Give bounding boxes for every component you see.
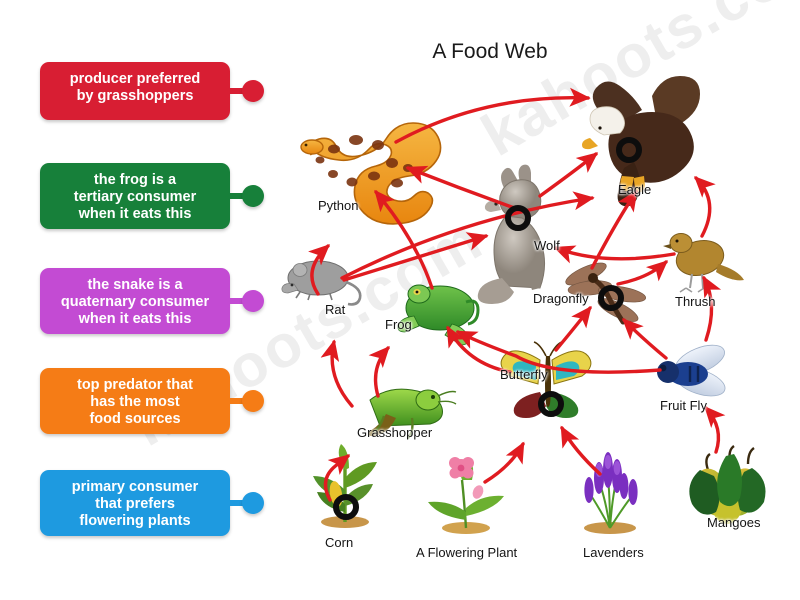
clue-line-2: quaternary consumer bbox=[48, 294, 222, 311]
arrow-grasshopper-frog bbox=[376, 348, 388, 396]
arrow-fruitfly-dragonfly bbox=[624, 320, 666, 358]
clue-line-2: that prefers bbox=[48, 496, 222, 513]
arrow-thrush-eagle bbox=[696, 178, 710, 236]
arrow-mangoes-fruitfly bbox=[706, 408, 718, 452]
arrow-lavenders-butterfly bbox=[562, 428, 600, 474]
arrow-wolf-eagle bbox=[540, 154, 596, 196]
clue-line-1: producer preferred bbox=[48, 71, 222, 88]
dropzone-butterfly[interactable] bbox=[538, 391, 564, 417]
organism-art-wolf bbox=[478, 165, 545, 304]
organism-art-thrush bbox=[663, 234, 744, 293]
dropzone-dragonfly[interactable] bbox=[598, 285, 624, 311]
arrow-thrush-wolf bbox=[556, 248, 674, 259]
dropzone-eagle[interactable] bbox=[616, 137, 642, 163]
clue-line-3: flowering plants bbox=[48, 513, 222, 530]
connector-knob[interactable] bbox=[242, 80, 264, 102]
organism-label-flowering-plant: A Flowering Plant bbox=[416, 545, 517, 560]
clue-card-top-predator-most-food-sources[interactable]: top predator that has the most food sour… bbox=[40, 368, 230, 434]
clue-line-2: tertiary consumer bbox=[48, 189, 222, 206]
clue-card-producer-preferred-by-grasshoppers[interactable]: producer preferred by grasshoppers bbox=[40, 62, 230, 120]
clue-line-3: when it eats this bbox=[48, 311, 222, 328]
organism-label-frog: Frog bbox=[385, 317, 412, 332]
organism-label-butterfly: Butterfly bbox=[500, 367, 548, 382]
connector-knob[interactable] bbox=[242, 390, 264, 412]
clue-card-frog-tertiary-consumer[interactable]: the frog is a tertiary consumer when it … bbox=[40, 163, 230, 229]
clue-line-3: when it eats this bbox=[48, 206, 222, 223]
page-title: A Food Web bbox=[390, 40, 590, 64]
connector-knob[interactable] bbox=[242, 185, 264, 207]
arrow-dragonfly-thrush bbox=[618, 262, 666, 284]
clue-line-1: primary consumer bbox=[48, 479, 222, 496]
organism-label-corn: Corn bbox=[325, 535, 353, 550]
clue-line-3: food sources bbox=[48, 411, 222, 428]
organism-art-fruit-fly bbox=[657, 339, 729, 401]
organism-art-flowering-plant bbox=[428, 457, 504, 534]
clue-line-1: top predator that bbox=[48, 377, 222, 394]
arrow-flowering-plant-butterfly bbox=[485, 444, 523, 482]
dropzone-wolf[interactable] bbox=[505, 205, 531, 231]
organism-label-lavenders: Lavenders bbox=[583, 545, 644, 560]
clue-card-snake-quaternary-consumer[interactable]: the snake is a quaternary consumer when … bbox=[40, 268, 230, 334]
organism-label-fruit-fly: Fruit Fly bbox=[660, 398, 707, 413]
organism-label-rat: Rat bbox=[325, 302, 345, 317]
dropzone-corn[interactable] bbox=[333, 494, 359, 520]
clue-line-2: has the most bbox=[48, 394, 222, 411]
organism-art-rat bbox=[282, 261, 360, 304]
organism-label-python: Python bbox=[318, 198, 358, 213]
organism-art-mangoes bbox=[689, 446, 765, 524]
organism-label-eagle: Eagle bbox=[618, 182, 651, 197]
arrow-fruitfly-thrush bbox=[704, 278, 712, 340]
organism-label-dragonfly: Dragonfly bbox=[533, 291, 589, 306]
clue-line-2: by grasshoppers bbox=[48, 88, 222, 105]
clue-line-1: the snake is a bbox=[48, 277, 222, 294]
clue-card-primary-consumer-flowering-plants[interactable]: primary consumer that prefers flowering … bbox=[40, 470, 230, 536]
organism-label-wolf: Wolf bbox=[534, 238, 560, 253]
arrow-butterfly-dragonfly bbox=[556, 308, 590, 350]
food-web-activity: kahoots.com kahoots.com A Food Web bbox=[0, 0, 800, 600]
organism-label-grasshopper: Grasshopper bbox=[357, 425, 432, 440]
arrow-grasshopper-rat bbox=[332, 342, 352, 406]
connector-knob[interactable] bbox=[242, 290, 264, 312]
clue-line-1: the frog is a bbox=[48, 172, 222, 189]
arrow-rat-wolf bbox=[344, 236, 486, 280]
organism-label-mangoes: Mangoes bbox=[707, 515, 760, 530]
connector-knob[interactable] bbox=[242, 492, 264, 514]
organism-label-thrush: Thrush bbox=[675, 294, 715, 309]
